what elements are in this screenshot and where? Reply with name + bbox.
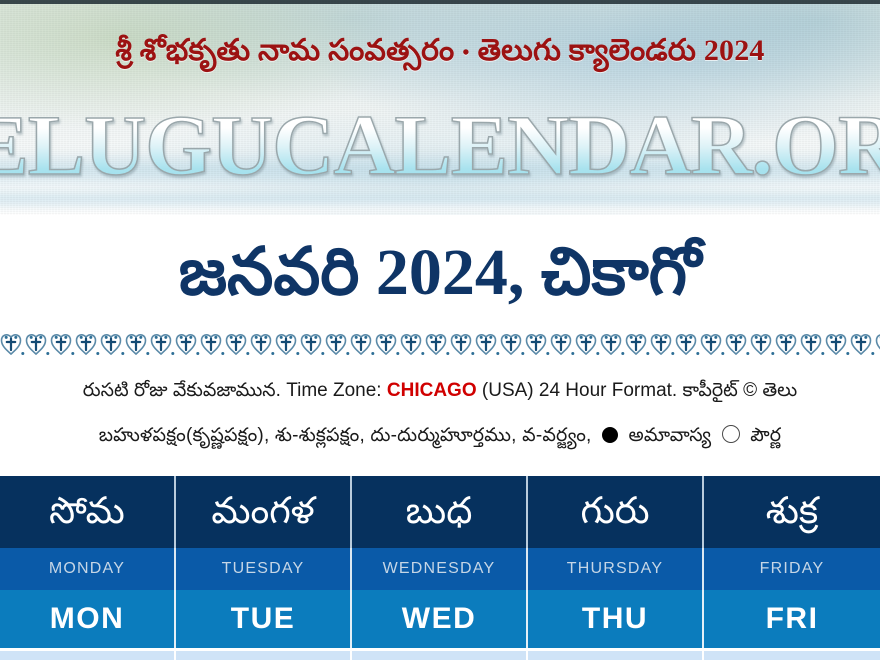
day-cell-thursday[interactable] — [528, 651, 704, 660]
ornamental-divider — [0, 332, 880, 360]
weekday-abbr-friday[interactable]: FRI — [704, 590, 880, 648]
weekday-english-monday[interactable]: MONDAY — [0, 548, 176, 590]
weekday-telugu-tuesday[interactable]: మంగళ — [176, 476, 352, 548]
legend-abbreviations-text: బహుళపక్షం(కృష్ణపక్షం), శు-శుక్లపక్షం, దు… — [99, 425, 592, 446]
weekday-abbr-monday[interactable]: MON — [0, 590, 176, 648]
site-watermark: TELUGUCALENDAR.ORG — [0, 102, 880, 188]
calendar-page: శ్రీ శోభకృతు నామ సంవత్సరం•తెలుగు క్యాలెం… — [0, 0, 880, 660]
legend-line: బహుళపక్షం(కృష్ణపక్షం), శు-శుక్లపక్షం, దు… — [0, 420, 880, 452]
day-cell-wednesday[interactable] — [352, 651, 528, 660]
new-moon-icon — [602, 427, 618, 443]
weekday-abbr-wednesday[interactable]: WED — [352, 590, 528, 648]
samvatsara-name: శ్రీ శోభకృతు నామ సంవత్సరం — [115, 34, 454, 67]
weekday-abbr-thursday[interactable]: THU — [528, 590, 704, 648]
weekday-telugu-friday[interactable]: శుక్ర — [704, 476, 880, 548]
day-cell-monday[interactable] — [0, 651, 176, 660]
legend-amavasya-label: అమావాస్య — [629, 425, 712, 446]
timezone-label: Time Zone: — [286, 380, 381, 401]
calendar-header-grid: సోమ మంగళ బుధ గురు శుక్ర MONDAY TUESDAY W… — [0, 476, 880, 660]
samvatsara-year-line: శ్రీ శోభకృతు నామ సంవత్సరం•తెలుగు క్యాలెం… — [0, 34, 880, 75]
timezone-value: CHICAGO — [387, 380, 477, 401]
weekday-english-wednesday[interactable]: WEDNESDAY — [352, 548, 528, 590]
legend-pournami-label: పౌర్ణ — [750, 425, 781, 446]
weekday-telugu-thursday[interactable]: గురు — [528, 476, 704, 548]
weekday-telugu-row: సోమ మంగళ బుధ గురు శుక్ర — [0, 476, 880, 548]
weekday-english-thursday[interactable]: THURSDAY — [528, 548, 704, 590]
weekday-english-row: MONDAY TUESDAY WEDNESDAY THURSDAY FRIDAY — [0, 548, 880, 590]
weekday-telugu-wednesday[interactable]: బుధ — [352, 476, 528, 548]
top-rule — [0, 0, 880, 4]
day-cell-tuesday[interactable] — [176, 651, 352, 660]
weekday-telugu-monday[interactable]: సోమ — [0, 476, 176, 548]
timezone-info-line: రుసటి రోజు వేకువజామున. Time Zone: CHICAG… — [0, 376, 880, 406]
calendar-year-label: తెలుగు క్యాలెండరు 2024 — [478, 34, 765, 67]
sunrise-note-text: రుసటి రోజు వేకువజామున. — [83, 380, 281, 401]
format-copyright-text: (USA) 24 Hour Format. కాపీరైట్ © తెలు — [482, 380, 797, 401]
calendar-body-first-row — [0, 651, 880, 660]
weekday-english-friday[interactable]: FRIDAY — [704, 548, 880, 590]
full-moon-icon — [722, 425, 740, 443]
weekday-abbr-tuesday[interactable]: TUE — [176, 590, 352, 648]
weekday-abbr-row: MON TUE WED THU FRI — [0, 590, 880, 648]
day-cell-friday[interactable] — [704, 651, 880, 660]
month-title: జనవరి 2024, చికాగో — [0, 218, 880, 328]
weekday-english-tuesday[interactable]: TUESDAY — [176, 548, 352, 590]
separator-dot: • — [454, 42, 477, 64]
